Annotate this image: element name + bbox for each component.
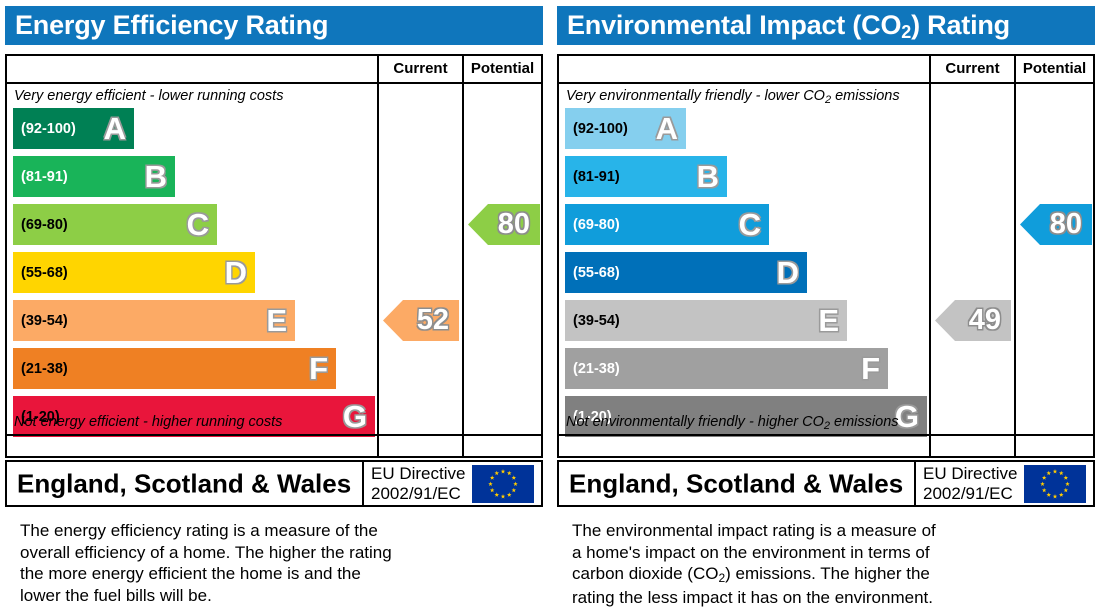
band-range-label: (69-80) [573,217,620,233]
eu-directive-line2-environmental: 2002/91/EC [923,484,1013,503]
country-label-energy: England, Scotland & Wales [17,468,351,499]
epc-chart-page: Energy Efficiency Rating Current Potenti… [0,0,1100,616]
footer-line: The energy efficiency rating is a measur… [20,520,520,542]
band-letter: A [656,112,678,143]
band-letter: B [145,160,167,191]
band-letter: D [777,256,799,287]
column-divider-potential-energy [462,56,464,456]
caption-divider-environmental [559,434,1093,436]
band-letter: C [187,208,209,239]
eu-directive-energy: EU Directive 2002/91/EC [371,464,465,504]
rating-band-d: (55-68)D [565,252,807,293]
rating-band-a: (92-100)A [13,108,134,149]
band-range-label: (92-100) [21,121,76,137]
band-letter: C [739,208,761,239]
footer-text-environmental: The environmental impact rating is a mea… [572,520,1072,608]
footer-line: overall efficiency of a home. The higher… [20,542,520,564]
band-letter: E [818,304,839,335]
panel-title-energy: Energy Efficiency Rating [5,6,543,45]
eu-flag-icon [1024,465,1086,503]
rating-band-b: (81-91)B [565,156,727,197]
eu-divider-environmental [914,462,916,505]
band-range-label: (69-80) [21,217,68,233]
footer-line: the more energy efficient the home is an… [20,563,520,585]
band-letter: D [225,256,247,287]
current-rating-arrow-energy: 52 [383,300,459,341]
footer-line: a home's impact on the environment in te… [572,542,1072,564]
column-header-potential-environmental: Potential [1016,56,1093,82]
panel-title-env-sub: 2 [901,22,911,42]
bottom-caption-energy: Not energy efficient - higher running co… [14,414,282,430]
column-header-current-energy: Current [379,56,462,82]
rating-table-environmental: Current Potential Very environmentally f… [557,54,1095,458]
energy-efficiency-panel: Energy Efficiency Rating Current Potenti… [5,0,543,616]
rating-band-f: (21-38)F [565,348,888,389]
panel-title-env-part2: ) Rating [911,10,1010,40]
band-letter: E [266,304,287,335]
rating-band-a: (92-100)A [565,108,686,149]
band-range-label: (39-54) [573,313,620,329]
bottom-caption-env-sub: 2 [824,420,830,432]
eu-directive-line1-environmental: EU Directive [923,464,1017,483]
rating-band-e: (39-54)E [13,300,295,341]
rating-table-energy: Current Potential Very energy efficient … [5,54,543,458]
band-range-label: (39-54) [21,313,68,329]
rating-band-e: (39-54)E [565,300,847,341]
bottom-caption-env-part1: Not environmentally friendly - higher CO [566,414,824,430]
eu-directive-line2-energy: 2002/91/EC [371,484,461,503]
country-label-environmental: England, Scotland & Wales [569,468,903,499]
eu-flag-icon [472,465,534,503]
rating-band-f: (21-38)F [13,348,336,389]
potential-rating-arrow-environmental: 80 [1020,204,1092,245]
footer-line: lower the fuel bills will be. [20,585,520,607]
current-rating-arrow-environmental: 49 [935,300,1011,341]
column-divider-potential-environmental [1014,56,1016,456]
rating-band-b: (81-91)B [13,156,175,197]
rating-band-c: (69-80)C [13,204,217,245]
band-range-label: (81-91) [21,169,68,185]
rating-band-d: (55-68)D [13,252,255,293]
band-letter: F [861,352,880,383]
panel-title-env-part1: Environmental Impact (CO [567,10,901,40]
bottom-caption-environmental: Not environmentally friendly - higher CO… [566,414,899,430]
column-divider-current-energy [377,56,379,456]
band-range-label: (21-38) [21,361,68,377]
band-letter: A [104,112,126,143]
caption-divider-energy [7,434,541,436]
bottom-caption-env-part2: emissions [830,414,899,430]
band-range-label: (55-68) [21,265,68,281]
footer-line: carbon dioxide (CO2) emissions. The high… [572,563,1072,587]
eu-directive-line1-energy: EU Directive [371,464,465,483]
panel-title-environmental: Environmental Impact (CO2) Rating [557,6,1095,45]
country-bar-environmental: England, Scotland & Wales EU Directive 2… [557,460,1095,507]
band-range-label: (21-38) [573,361,620,377]
eu-divider-energy [362,462,364,505]
column-header-current-environmental: Current [931,56,1014,82]
eu-directive-environmental: EU Directive 2002/91/EC [923,464,1017,504]
rating-bars-environmental: (92-100)A(81-91)B(69-80)C(55-68)D(39-54)… [559,56,929,456]
band-range-label: (55-68) [573,265,620,281]
footer-text-energy: The energy efficiency rating is a measur… [20,520,520,606]
band-letter: B [697,160,719,191]
band-range-label: (81-91) [573,169,620,185]
footer-line: rating the less impact it has on the env… [572,587,1072,609]
rating-bars-energy: (92-100)A(81-91)B(69-80)C(55-68)D(39-54)… [7,56,377,456]
rating-band-c: (69-80)C [565,204,769,245]
band-range-label: (92-100) [573,121,628,137]
column-header-potential-energy: Potential [464,56,541,82]
footer-line: The environmental impact rating is a mea… [572,520,1072,542]
potential-rating-arrow-energy: 80 [468,204,540,245]
environmental-impact-panel: Environmental Impact (CO2) Rating Curren… [557,0,1095,616]
country-bar-energy: England, Scotland & Wales EU Directive 2… [5,460,543,507]
band-letter: F [309,352,328,383]
column-divider-current-environmental [929,56,931,456]
band-letter: G [343,400,367,431]
